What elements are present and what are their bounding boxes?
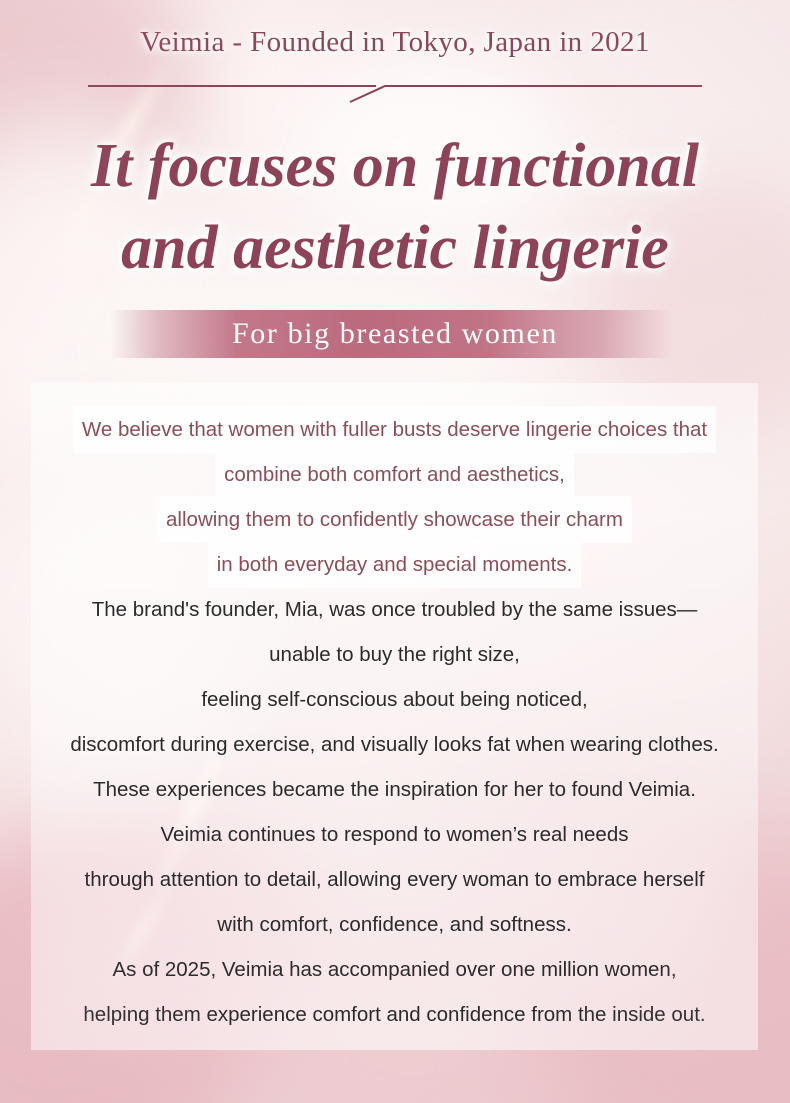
brand-story-poster: Veimia - Founded in Tokyo, Japan in 2021… (0, 0, 790, 1103)
body-line-text: helping them experience comfort and conf… (74, 991, 714, 1038)
body-line-text: in both everyday and special moments. (208, 541, 582, 588)
body-line: allowing them to confidently showcase th… (31, 496, 758, 541)
body-line-text: The brand's founder, Mia, was once troub… (83, 586, 707, 633)
body-line-text: discomfort during exercise, and visually… (61, 721, 727, 768)
body-line-text: combine both comfort and aesthetics, (215, 451, 574, 498)
body-line-text: with comfort, confidence, and softness. (208, 901, 580, 948)
page-title-line-2: and aesthetic lingerie (0, 208, 790, 290)
body-line: through attention to detail, allowing ev… (31, 856, 758, 901)
body-line-text: feeling self-conscious about being notic… (192, 676, 596, 723)
body-line-text: allowing them to confidently showcase th… (157, 496, 632, 543)
body-line-text: unable to buy the right size, (260, 631, 529, 678)
body-line: feeling self-conscious about being notic… (31, 676, 758, 721)
subtitle-band: For big breasted women (0, 310, 790, 358)
body-line: These experiences became the inspiration… (31, 766, 758, 811)
body-line: combine both comfort and aesthetics, (31, 451, 758, 496)
body-line: unable to buy the right size, (31, 631, 758, 676)
body-line: in both everyday and special moments. (31, 541, 758, 586)
body-line: The brand's founder, Mia, was once troub… (31, 586, 758, 631)
decorative-divider-icon (88, 78, 702, 104)
body-line: We believe that women with fuller busts … (31, 406, 758, 451)
page-title: It focuses on functional and aesthetic l… (0, 126, 790, 290)
body-line-text: through attention to detail, allowing ev… (76, 856, 714, 903)
body-line-text: We believe that women with fuller busts … (73, 406, 716, 453)
body-copy: We believe that women with fuller busts … (31, 383, 758, 1050)
subtitle-band-text: For big breasted women (232, 317, 558, 351)
brand-eyebrow: Veimia - Founded in Tokyo, Japan in 2021 (0, 26, 790, 59)
body-line: As of 2025, Veimia has accompanied over … (31, 946, 758, 991)
body-line-text: These experiences became the inspiration… (84, 766, 705, 813)
brand-eyebrow-text: Veimia - Founded in Tokyo, Japan in 2021 (140, 26, 650, 59)
body-line: helping them experience comfort and conf… (31, 991, 758, 1036)
body-line: Veimia continues to respond to women’s r… (31, 811, 758, 856)
page-title-line-1: It focuses on functional (0, 126, 790, 208)
body-line: with comfort, confidence, and softness. (31, 901, 758, 946)
body-line: discomfort during exercise, and visually… (31, 721, 758, 766)
body-line-text: As of 2025, Veimia has accompanied over … (103, 946, 685, 993)
body-line-text: Veimia continues to respond to women’s r… (152, 811, 638, 858)
